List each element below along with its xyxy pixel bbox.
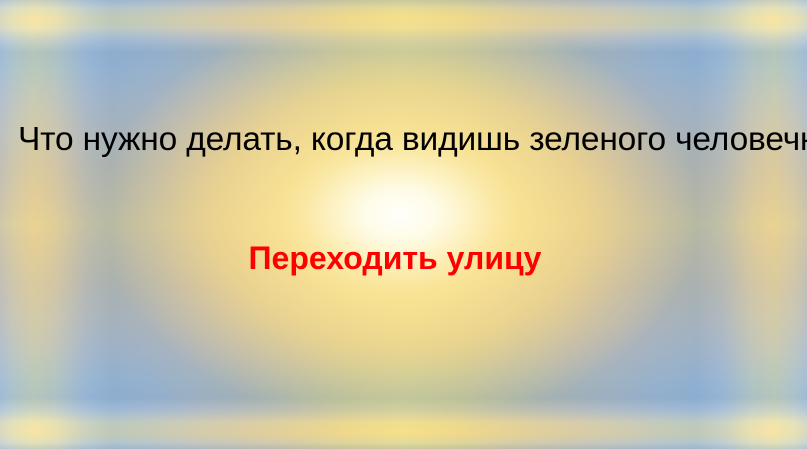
slide-text-layer: Что нужно делать, когда видишь зеленого …	[0, 0, 807, 449]
question-text: Что нужно делать, когда видишь зеленого …	[18, 120, 798, 160]
answer-text: Переходить улицу	[0, 238, 790, 278]
slide-canvas: Что нужно делать, когда видишь зеленого …	[0, 0, 807, 449]
